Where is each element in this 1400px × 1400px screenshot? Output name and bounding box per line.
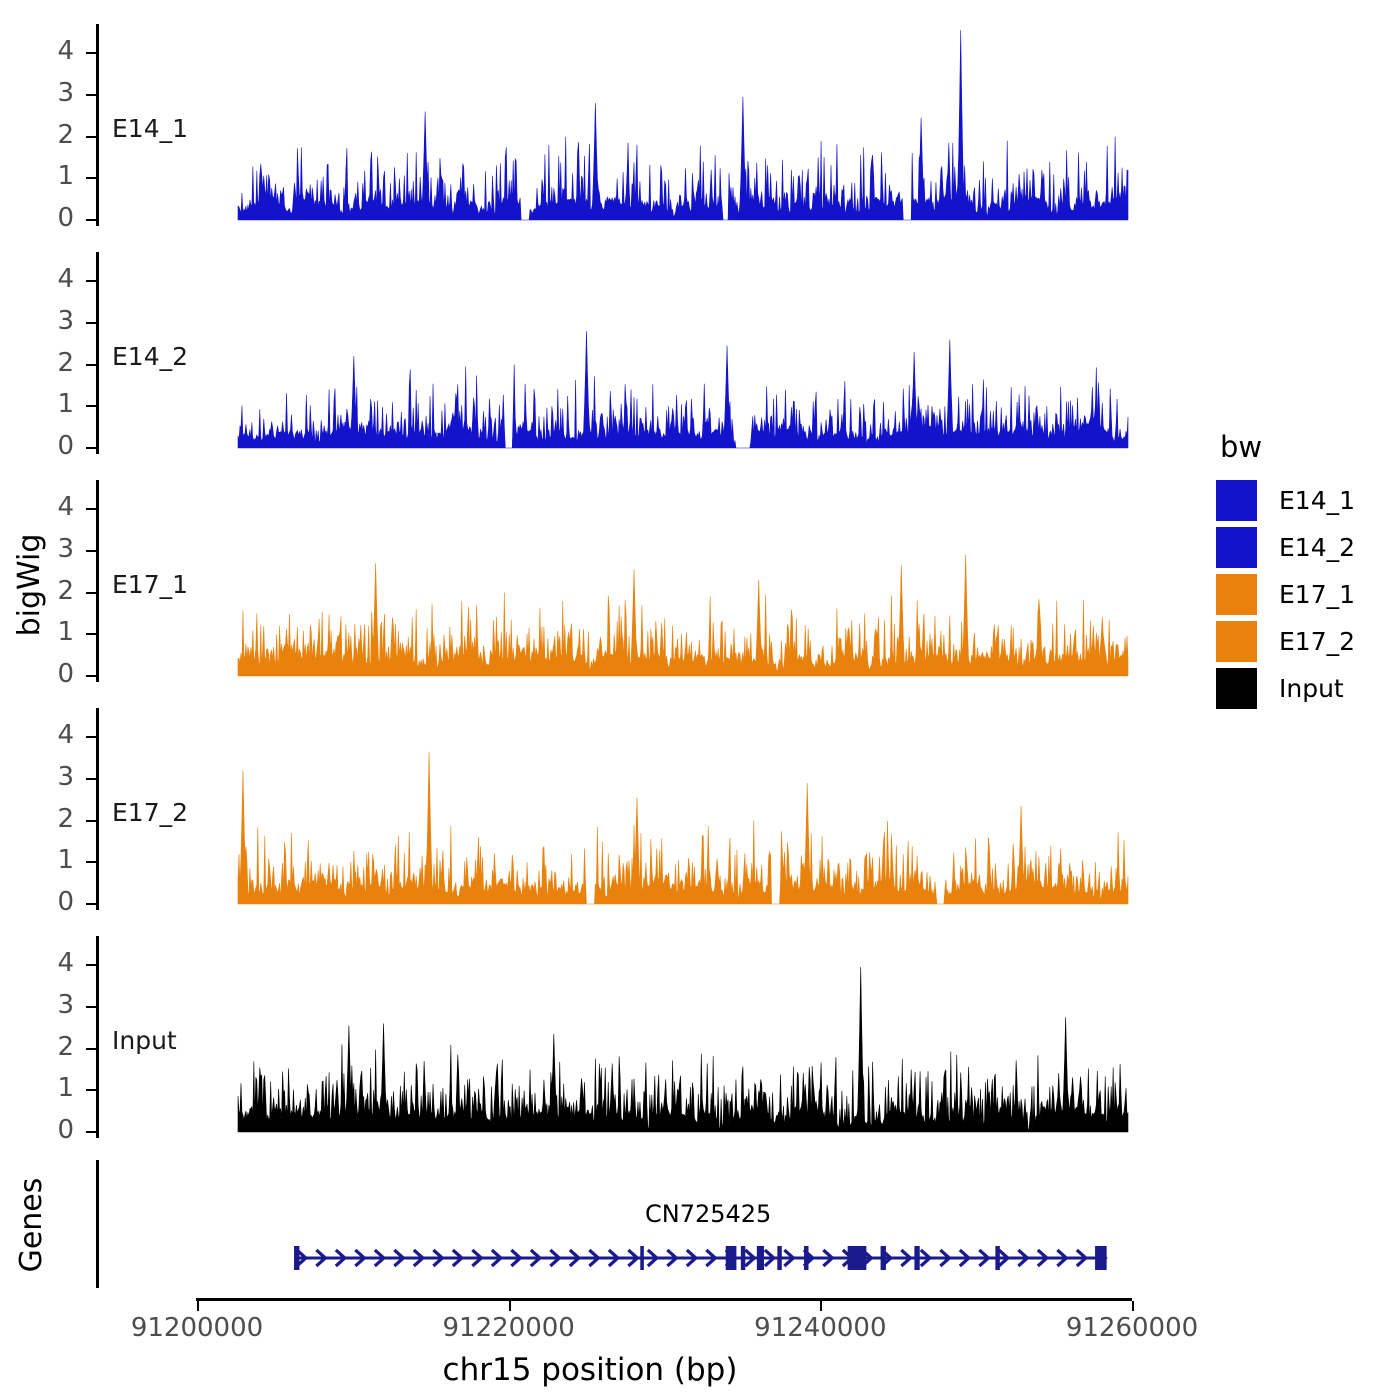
x-tick-label: 91200000	[131, 1313, 263, 1343]
y-tick-label: 4	[4, 266, 74, 292]
legend-swatch	[1216, 621, 1257, 662]
legend-swatch	[1216, 574, 1257, 615]
x-tick-label: 91240000	[754, 1313, 886, 1343]
y-tick-label: 0	[4, 205, 74, 231]
y-tick	[86, 177, 97, 179]
x-axis-line	[196, 1298, 1132, 1301]
y-tick-label: 1	[4, 1075, 74, 1101]
x-axis-label: chr15 position (bp)	[0, 1352, 1180, 1388]
legend-item-input[interactable]: Input	[1216, 666, 1396, 710]
y-tick	[86, 1089, 97, 1091]
track-panel-e17_1: 01234E17_1	[0, 480, 1180, 682]
y-tick	[86, 405, 97, 407]
y-tick-label: 3	[4, 992, 74, 1018]
y-tick	[86, 903, 97, 905]
legend-label: E17_1	[1279, 580, 1355, 609]
y-tick	[86, 861, 97, 863]
y-tick-label: 0	[4, 1117, 74, 1143]
legend-swatch	[1216, 668, 1257, 709]
y-tick-label: 0	[4, 433, 74, 459]
track-plot-e17_2	[99, 708, 1180, 910]
legend-items: E14_1E14_2E17_1E17_2Input	[1216, 478, 1396, 710]
legend: bw E14_1E14_2E17_1E17_2Input	[1216, 430, 1396, 713]
y-tick-label: 1	[4, 847, 74, 873]
y-tick	[86, 1006, 97, 1008]
y-tick	[86, 219, 97, 221]
y-tick	[86, 447, 97, 449]
y-tick	[86, 52, 97, 54]
x-tick-label: 91220000	[442, 1313, 574, 1343]
track-plot-input	[99, 936, 1180, 1138]
y-tick-label: 2	[4, 806, 74, 832]
y-tick	[86, 736, 97, 738]
track-plot-e17_1	[99, 480, 1180, 682]
y-tick	[86, 633, 97, 635]
y-tick-label: 4	[4, 722, 74, 748]
y-tick-label: 2	[4, 350, 74, 376]
y-tick-label: 3	[4, 536, 74, 562]
y-tick-label: 0	[4, 889, 74, 915]
y-tick-label: 1	[4, 391, 74, 417]
y-tick-label: 3	[4, 80, 74, 106]
legend-title: bw	[1220, 430, 1396, 464]
y-tick	[86, 136, 97, 138]
y-tick-label: 4	[4, 38, 74, 64]
y-tick	[86, 550, 97, 552]
legend-item-e17_1[interactable]: E17_1	[1216, 572, 1396, 616]
legend-label: E14_1	[1279, 486, 1355, 515]
y-tick	[86, 778, 97, 780]
y-tick-label: 2	[4, 1034, 74, 1060]
y-tick	[86, 592, 97, 594]
y-tick-label: 0	[4, 661, 74, 687]
y-tick	[86, 508, 97, 510]
track-panel-input: 01234Input	[0, 936, 1180, 1138]
legend-item-e14_1[interactable]: E14_1	[1216, 478, 1396, 522]
y-tick	[86, 964, 97, 966]
y-tick-label: 4	[4, 494, 74, 520]
y-tick-label: 1	[4, 163, 74, 189]
legend-swatch	[1216, 480, 1257, 521]
track-panel-e14_1: 01234E14_1	[0, 24, 1180, 226]
track-panel-e14_2: 01234E14_2	[0, 252, 1180, 454]
x-tick	[509, 1301, 511, 1311]
y-tick	[86, 280, 97, 282]
legend-label: E14_2	[1279, 533, 1355, 562]
track-plot-e14_2	[99, 252, 1180, 454]
y-tick-label: 4	[4, 950, 74, 976]
x-tick	[197, 1301, 199, 1311]
y-tick	[86, 1131, 97, 1133]
y-tick-label: 3	[4, 308, 74, 334]
track-panel-e17_2: 01234E17_2	[0, 708, 1180, 910]
x-tick	[820, 1301, 822, 1311]
y-tick-label: 2	[4, 122, 74, 148]
x-tick	[1132, 1301, 1134, 1311]
y-tick	[86, 675, 97, 677]
legend-label: Input	[1279, 674, 1344, 703]
y-tick-label: 1	[4, 619, 74, 645]
y-tick	[86, 364, 97, 366]
y-tick	[86, 94, 97, 96]
legend-swatch	[1216, 527, 1257, 568]
y-tick-label: 2	[4, 578, 74, 604]
track-plot-e14_1	[99, 24, 1180, 226]
gene-model[interactable]	[99, 1160, 1180, 1290]
y-tick	[86, 820, 97, 822]
legend-item-e14_2[interactable]: E14_2	[1216, 525, 1396, 569]
legend-item-e17_2[interactable]: E17_2	[1216, 619, 1396, 663]
legend-label: E17_2	[1279, 627, 1355, 656]
y-tick	[86, 322, 97, 324]
x-tick-label: 91260000	[1066, 1313, 1198, 1343]
y-tick-label: 3	[4, 764, 74, 790]
y-tick	[86, 1048, 97, 1050]
